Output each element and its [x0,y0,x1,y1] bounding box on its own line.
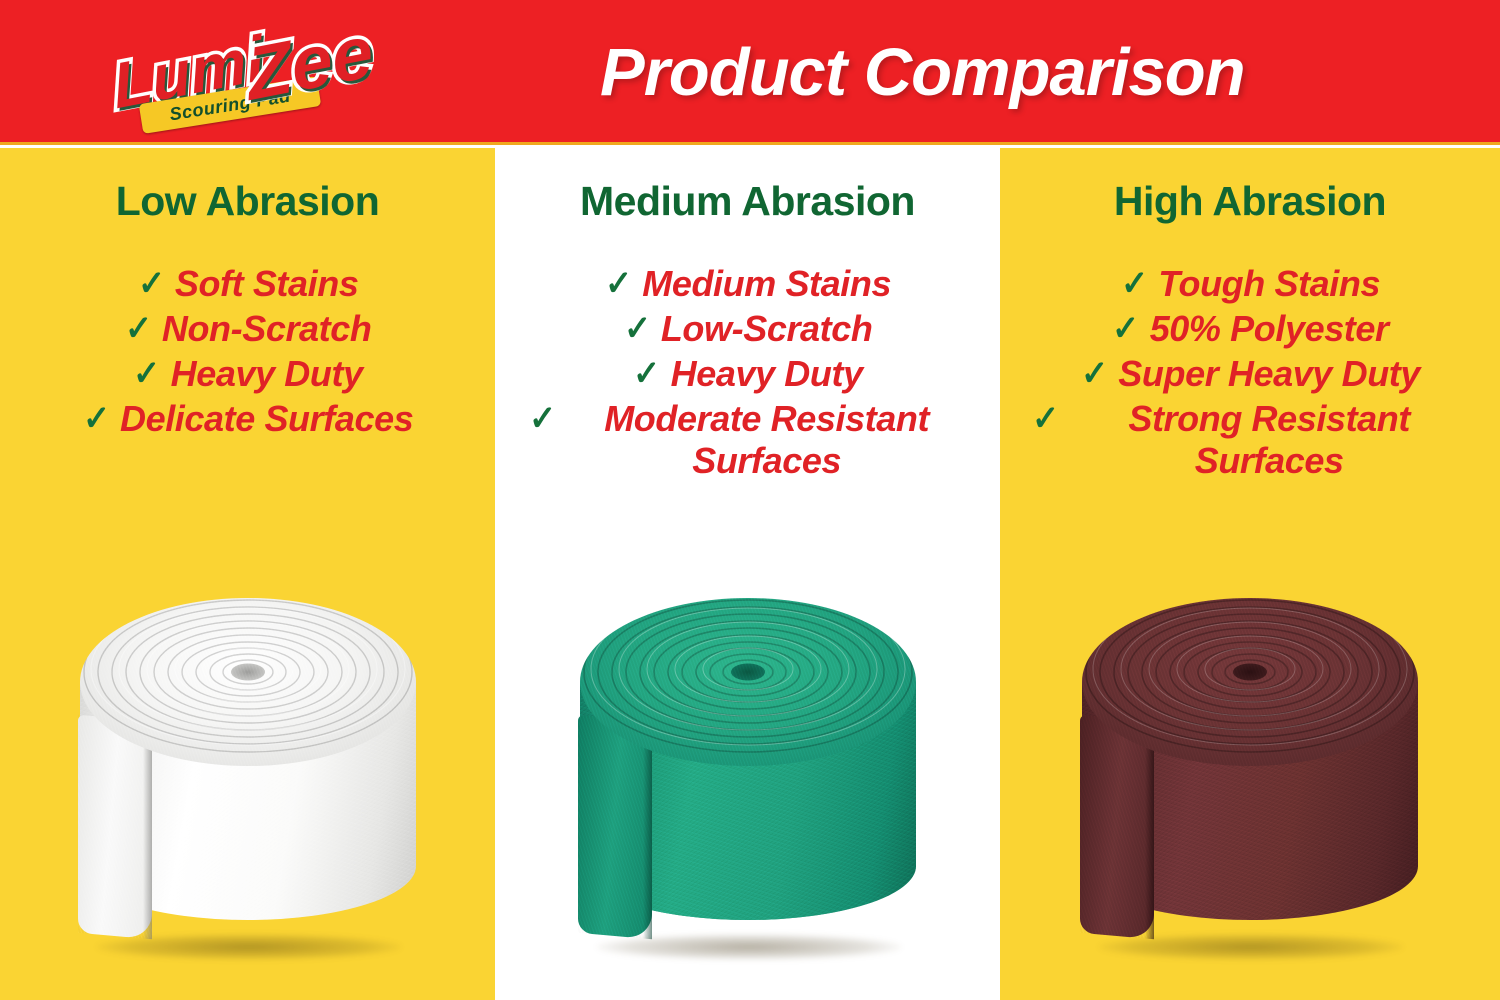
check-icon: ✓ [125,308,152,350]
scouring-pad-roll [568,590,928,962]
check-icon: ✓ [1121,263,1148,305]
comparison-column-medium-abrasion: Medium Abrasion ✓ Medium Stains ✓ Low-Sc… [495,148,1000,1000]
comparison-columns: Low Abrasion ✓ Soft Stains ✓ Non-Scratch… [0,148,1500,1000]
roll-center-hole [1233,663,1267,680]
list-item: ✓ Moderate Resistant Surfaces [495,398,1000,482]
check-icon: ✓ [633,353,660,395]
feature-label: Tough Stains [1158,263,1380,305]
list-item: ✓ Low-Scratch [495,308,1000,350]
scouring-pad-roll [1070,590,1430,962]
feature-label: Medium Stains [642,263,891,305]
column-title: High Abrasion [1000,178,1500,225]
list-item: ✓ Non-Scratch [0,308,495,350]
roll-top-coil [580,598,916,766]
feature-label: Moderate Resistant Surfaces [567,398,967,482]
check-icon: ✓ [1113,308,1140,350]
scouring-pad-roll [68,590,428,962]
feature-label: Soft Stains [175,263,359,305]
logo-wordmark: Lumi Zee Scouring Pad [104,16,404,134]
feature-label: Super Heavy Duty [1118,353,1420,395]
roll-drop-shadow [596,934,902,960]
product-image-white-roll [68,590,428,962]
feature-label: Delicate Surfaces [120,398,413,440]
list-item: ✓ Super Heavy Duty [1000,353,1500,395]
page-title: Product Comparison [600,24,1440,120]
feature-label: Low-Scratch [661,308,873,350]
column-title: Medium Abrasion [495,178,1000,225]
coil-rings [80,598,416,766]
roll-center-hole [731,663,765,680]
list-item: ✓ Tough Stains [1000,263,1500,305]
check-icon: ✓ [1032,398,1059,440]
product-image-brown-roll [1070,590,1430,962]
logo-word-secondary: Zee [243,14,377,112]
roll-top-coil [1082,598,1418,766]
product-comparison-infographic: Lumi Zee Scouring Pad Product Comparison… [0,0,1500,1000]
list-item: ✓ Heavy Duty [495,353,1000,395]
column-title: Low Abrasion [0,178,495,225]
product-image-green-roll [568,590,928,962]
check-icon: ✓ [624,308,651,350]
coil-rings [1082,598,1418,766]
header-bar: Lumi Zee Scouring Pad Product Comparison [0,0,1500,145]
check-icon: ✓ [133,353,160,395]
feature-label: 50% Polyester [1150,308,1389,350]
check-icon: ✓ [138,263,165,305]
list-item: ✓ Delicate Surfaces [0,398,495,440]
feature-list: ✓ Medium Stains ✓ Low-Scratch ✓ Heavy Du… [495,263,1000,485]
feature-list: ✓ Soft Stains ✓ Non-Scratch ✓ Heavy Duty… [0,263,495,443]
feature-label: Heavy Duty [671,353,863,395]
feature-label: Non-Scratch [162,308,372,350]
coil-rings [580,598,916,766]
roll-drop-shadow [1098,934,1404,960]
check-icon: ✓ [83,398,110,440]
list-item: ✓ Strong Resistant Surfaces [1000,398,1500,482]
list-item: ✓ Medium Stains [495,263,1000,305]
roll-top-coil [80,598,416,766]
check-icon: ✓ [1081,353,1108,395]
list-item: ✓ Heavy Duty [0,353,495,395]
comparison-column-high-abrasion: High Abrasion ✓ Tough Stains ✓ 50% Polye… [1000,148,1500,1000]
list-item: ✓ 50% Polyester [1000,308,1500,350]
feature-label: Strong Resistant Surfaces [1069,398,1469,482]
brand-logo: Lumi Zee Scouring Pad [104,16,404,134]
list-item: ✓ Soft Stains [0,263,495,305]
check-icon: ✓ [605,263,632,305]
feature-label: Heavy Duty [171,353,363,395]
check-icon: ✓ [530,398,557,440]
roll-drop-shadow [96,934,402,960]
roll-center-hole [231,663,265,680]
comparison-column-low-abrasion: Low Abrasion ✓ Soft Stains ✓ Non-Scratch… [0,148,495,1000]
feature-list: ✓ Tough Stains ✓ 50% Polyester ✓ Super H… [1000,263,1500,485]
